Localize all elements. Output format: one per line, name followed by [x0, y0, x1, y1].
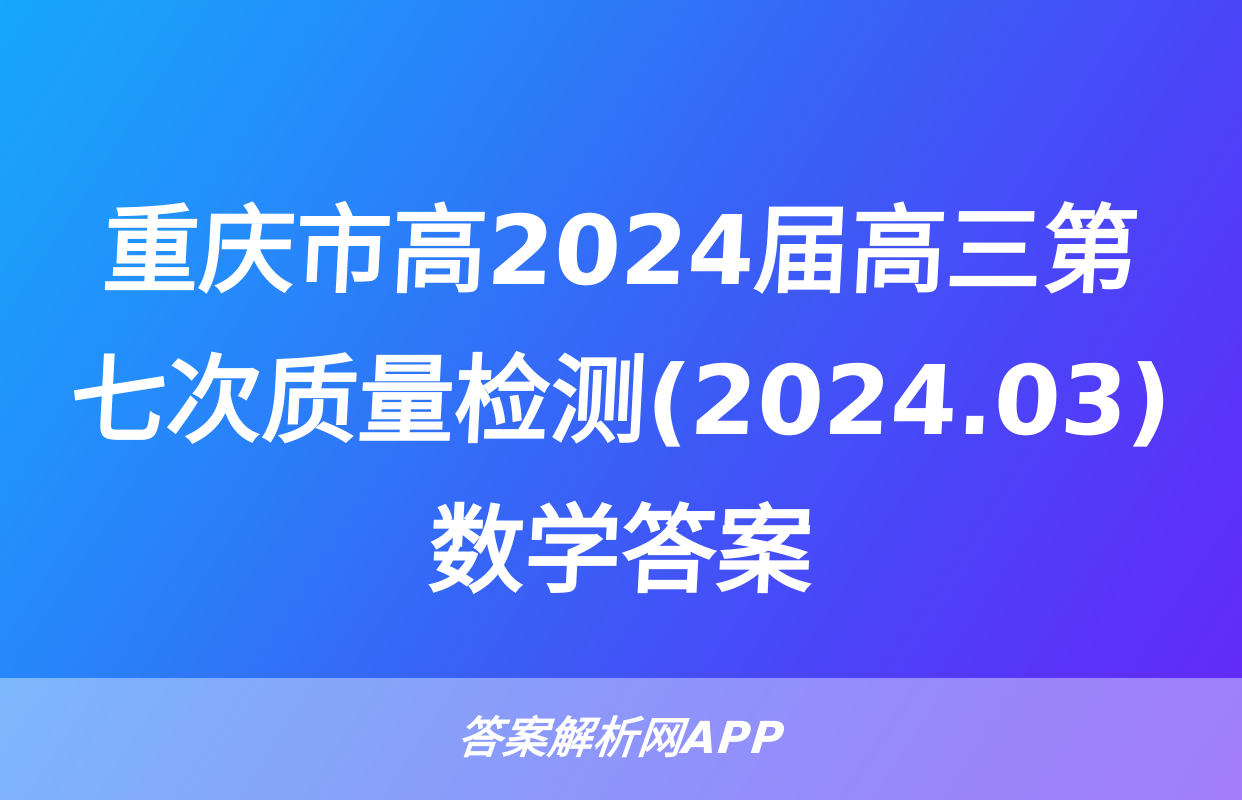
footer-band: 答案解析网APP	[0, 678, 1242, 800]
poster-canvas: 重庆市高2024届高三第 七次质量检测(2024.03) 数学答案 答案解析网A…	[0, 0, 1242, 800]
title-line-3: 数学答案	[24, 476, 1218, 626]
title-line-2: 七次质量检测(2024.03)	[24, 326, 1218, 476]
title-line-1: 重庆市高2024届高三第	[24, 176, 1218, 326]
app-watermark-label: 答案解析网APP	[455, 717, 786, 761]
page-title: 重庆市高2024届高三第 七次质量检测(2024.03) 数学答案	[0, 176, 1242, 626]
